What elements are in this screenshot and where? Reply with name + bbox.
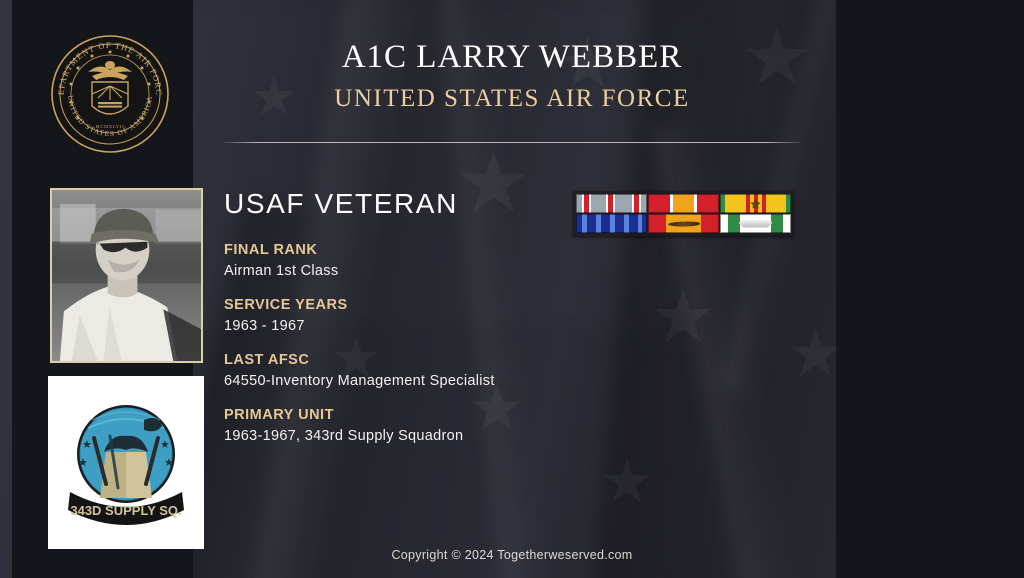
left-sidebar: DEPARTMENT OF THE AIR FORCE UNITED STATE…: [12, 0, 193, 578]
ribbon-row-top: ★: [576, 194, 791, 213]
service-member-photo: [50, 188, 203, 363]
field-last-afsc: LAST AFSC 64550-Inventory Management Spe…: [224, 352, 584, 389]
bronze-star-device: ★: [750, 197, 762, 210]
footer-copyright: Copyright © 2024 Togetherweserved.com: [0, 548, 1024, 562]
branch-subtitle: UNITED STATES AIR FORCE: [224, 85, 800, 113]
ribbon-republic-of-vietnam-campaign-medal: [720, 214, 791, 233]
right-sidebar: US: [836, 0, 1024, 578]
field-primary-unit: PRIMARY UNIT 1963-1967, 343rd Supply Squ…: [224, 407, 584, 444]
air-force-seal: DEPARTMENT OF THE AIR FORCE UNITED STATE…: [48, 32, 180, 156]
header: A1C LARRY WEBBER UNITED STATES AIR FORCE: [224, 40, 800, 112]
ribbon-air-force-good-conduct-medal: [576, 194, 647, 213]
campaign-bar-device: [739, 220, 773, 228]
svg-text:★: ★: [160, 438, 170, 451]
field-service-years: SERVICE YEARS 1963 - 1967: [224, 297, 584, 334]
field-label: FINAL RANK: [224, 242, 584, 258]
svg-text:★: ★: [78, 456, 88, 469]
header-divider: [224, 142, 800, 143]
field-value: 1963-1967, 343rd Supply Squadron: [224, 428, 584, 444]
field-value: Airman 1st Class: [224, 263, 584, 279]
ribbon-republic-of-vietnam-gallantry-cross-unit-citation: [648, 214, 719, 233]
page-title: A1C LARRY WEBBER: [224, 40, 800, 75]
svg-text:★: ★: [164, 456, 174, 469]
service-details: FINAL RANK Airman 1st Class SERVICE YEAR…: [224, 242, 584, 462]
ribbon-vietnam-service-medal: ★: [720, 194, 791, 213]
field-label: PRIMARY UNIT: [224, 407, 584, 423]
field-value: 1963 - 1967: [224, 318, 584, 334]
palm-device: [668, 221, 700, 226]
field-label: LAST AFSC: [224, 352, 584, 368]
field-label: SERVICE YEARS: [224, 297, 584, 313]
ribbon-row-bottom: [576, 214, 791, 233]
section-title: USAF VETERAN: [224, 188, 458, 220]
profile-card: ★ ★ ★ ★ ★ ★ ★ ★ ★ DEPARTMENT OF THE AIR …: [0, 0, 1024, 578]
svg-text:★: ★: [82, 438, 92, 451]
department-of-the-air-force-seal: DEPARTMENT OF THE AIR FORCE UNITED STATE…: [48, 32, 172, 156]
field-final-rank: FINAL RANK Airman 1st Class: [224, 242, 584, 279]
svg-text:343D SUPPLY SQ.: 343D SUPPLY SQ.: [70, 503, 181, 518]
field-value: 64550-Inventory Management Specialist: [224, 373, 584, 389]
ribbon-national-defense-service-medal: [648, 194, 719, 213]
ribbon-air-force-longevity-service-award: [576, 214, 647, 233]
unit-patch: ★★ ★★ 343D SUPPLY SQ.: [48, 376, 204, 549]
svg-text:MCMXLVII: MCMXLVII: [96, 124, 125, 129]
ribbon-rack: ★: [573, 191, 794, 236]
